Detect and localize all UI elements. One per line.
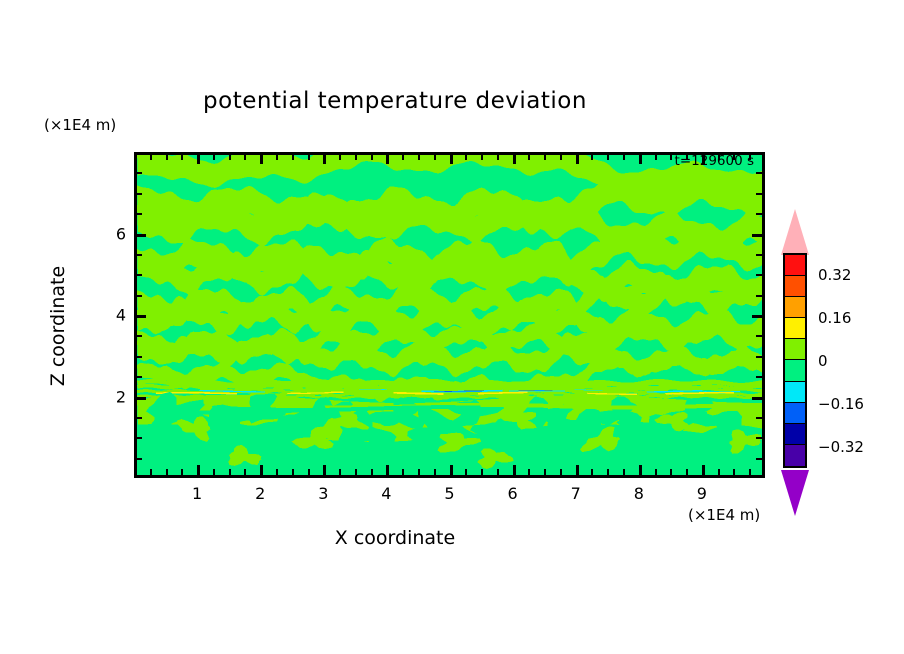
y-tick	[135, 172, 142, 174]
x-tick	[623, 153, 625, 160]
x-tick	[749, 469, 751, 476]
x-tick	[639, 153, 642, 164]
y-tick	[135, 193, 142, 195]
colorbar-band	[785, 403, 805, 424]
x-tick	[386, 153, 389, 164]
colorbar-tick-label: 0.32	[818, 266, 851, 284]
y-tick	[135, 458, 142, 460]
timestamp-label: t=129600 s	[675, 153, 754, 169]
colorbar-band	[785, 445, 805, 466]
contour-plot-area: t=129600 s	[134, 152, 765, 478]
y-tick	[756, 213, 763, 215]
colorbar-tick-label: 0	[818, 352, 828, 370]
x-tick	[655, 469, 657, 476]
x-axis-unit: (×1E4 m)	[688, 506, 760, 524]
colorbar-band	[785, 297, 805, 318]
y-tick	[135, 335, 142, 337]
x-tick	[465, 469, 467, 476]
x-tick-label: 6	[508, 484, 518, 503]
x-tick	[686, 469, 688, 476]
x-tick	[418, 153, 420, 160]
y-tick	[752, 234, 763, 237]
x-tick	[166, 469, 168, 476]
y-tick	[135, 315, 146, 318]
x-tick	[733, 469, 735, 476]
x-tick	[465, 153, 467, 160]
x-tick-label: 9	[697, 484, 707, 503]
y-tick	[756, 437, 763, 439]
x-tick	[497, 469, 499, 476]
x-tick	[670, 469, 672, 476]
x-tick	[244, 469, 246, 476]
x-tick	[308, 469, 310, 476]
y-tick	[756, 376, 763, 378]
x-tick	[402, 469, 404, 476]
y-tick	[135, 437, 142, 439]
y-tick-label: 2	[100, 387, 126, 406]
x-tick	[434, 153, 436, 160]
y-tick	[756, 335, 763, 337]
x-tick-label: 7	[571, 484, 581, 503]
x-tick	[229, 153, 231, 160]
contour-field	[137, 155, 762, 475]
x-tick	[292, 469, 294, 476]
x-tick	[402, 153, 404, 160]
colorbar-over-arrow	[781, 209, 809, 255]
y-tick	[135, 417, 142, 419]
y-axis-unit: (×1E4 m)	[44, 116, 116, 134]
y-tick	[756, 274, 763, 276]
x-tick	[229, 469, 231, 476]
x-tick	[702, 465, 705, 476]
x-tick	[213, 153, 215, 160]
x-tick-label: 4	[381, 484, 391, 503]
y-tick	[752, 315, 763, 318]
colorbar-band	[785, 360, 805, 381]
y-tick	[756, 172, 763, 174]
x-tick	[355, 153, 357, 160]
x-tick	[544, 153, 546, 160]
x-tick	[418, 469, 420, 476]
y-tick-label: 6	[100, 224, 126, 243]
colorbar-band	[785, 382, 805, 403]
y-tick	[756, 356, 763, 358]
x-axis-title: X coordinate	[0, 527, 790, 549]
y-tick	[752, 397, 763, 400]
x-tick	[371, 469, 373, 476]
x-tick	[591, 469, 593, 476]
x-tick	[244, 153, 246, 160]
x-tick	[560, 469, 562, 476]
x-tick	[576, 465, 579, 476]
x-tick	[292, 153, 294, 160]
colorbar-tick-label: −0.16	[818, 395, 864, 413]
y-tick	[135, 213, 142, 215]
x-tick	[260, 465, 263, 476]
y-tick	[135, 356, 142, 358]
x-tick	[308, 153, 310, 160]
x-tick	[323, 465, 326, 476]
x-tick	[576, 153, 579, 164]
y-tick	[135, 254, 142, 256]
x-tick	[260, 153, 263, 164]
x-tick	[276, 153, 278, 160]
colorbar-tick-label: −0.32	[818, 438, 864, 456]
x-tick	[197, 465, 200, 476]
colorbar-band	[785, 318, 805, 339]
y-tick	[756, 417, 763, 419]
y-tick	[756, 193, 763, 195]
x-tick-label: 3	[318, 484, 328, 503]
chart-title: potential temperature deviation	[0, 88, 790, 114]
x-tick	[386, 465, 389, 476]
x-tick	[197, 153, 200, 164]
y-tick	[135, 376, 142, 378]
x-tick	[607, 469, 609, 476]
y-tick	[135, 274, 142, 276]
x-tick	[481, 153, 483, 160]
x-tick	[655, 153, 657, 160]
y-tick	[756, 254, 763, 256]
x-tick	[670, 153, 672, 160]
x-tick	[450, 465, 453, 476]
x-tick	[150, 469, 152, 476]
x-tick-label: 2	[255, 484, 265, 503]
colorbar-band	[785, 255, 805, 276]
colorbar	[783, 253, 807, 468]
colorbar-band	[785, 424, 805, 445]
y-tick	[756, 458, 763, 460]
x-tick-label: 5	[444, 484, 454, 503]
y-tick	[135, 295, 142, 297]
x-tick	[639, 465, 642, 476]
x-tick	[497, 153, 499, 160]
colorbar-under-arrow	[781, 470, 809, 516]
x-tick	[544, 469, 546, 476]
y-tick	[135, 397, 146, 400]
x-tick	[181, 469, 183, 476]
x-tick	[371, 153, 373, 160]
y-tick	[756, 295, 763, 297]
x-tick-label: 8	[634, 484, 644, 503]
x-tick	[513, 153, 516, 164]
x-tick	[560, 153, 562, 160]
y-tick	[135, 234, 146, 237]
colorbar-tick-label: 0.16	[818, 309, 851, 327]
x-tick	[623, 469, 625, 476]
x-tick	[434, 469, 436, 476]
x-tick	[181, 153, 183, 160]
x-tick	[213, 469, 215, 476]
colorbar-band	[785, 276, 805, 297]
x-tick	[450, 153, 453, 164]
colorbar-band	[785, 339, 805, 360]
x-tick	[513, 465, 516, 476]
x-tick	[276, 469, 278, 476]
x-tick	[339, 153, 341, 160]
x-tick	[339, 469, 341, 476]
x-tick	[718, 469, 720, 476]
x-tick	[150, 153, 152, 160]
x-tick	[481, 469, 483, 476]
x-tick	[528, 469, 530, 476]
x-tick	[607, 153, 609, 160]
y-axis-title: Z coordinate	[47, 226, 69, 426]
y-tick-label: 4	[100, 306, 126, 325]
x-tick	[591, 153, 593, 160]
x-tick	[166, 153, 168, 160]
x-tick	[528, 153, 530, 160]
x-tick-label: 1	[192, 484, 202, 503]
x-tick	[355, 469, 357, 476]
x-tick	[323, 153, 326, 164]
